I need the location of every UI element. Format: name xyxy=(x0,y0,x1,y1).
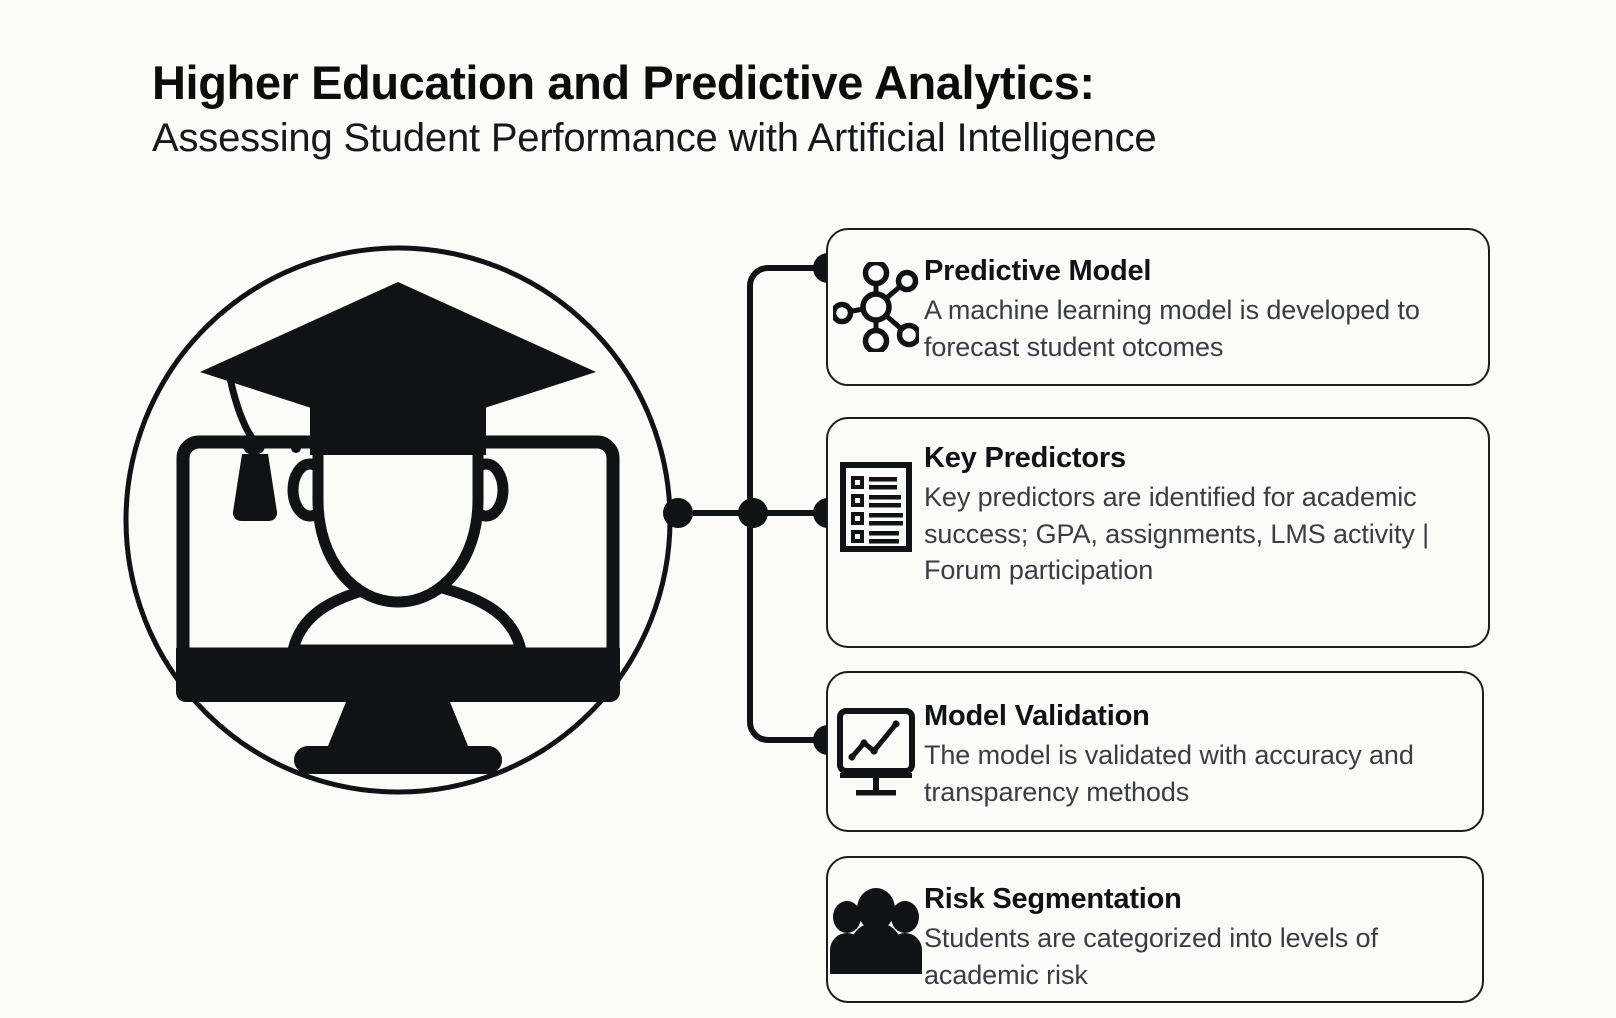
card-body: Predictive Model A machine learning mode… xyxy=(924,256,1488,365)
title-block: Higher Education and Predictive Analytic… xyxy=(152,58,1452,161)
checklist-document-icon xyxy=(828,461,924,553)
card-model-validation[interactable]: Model Validation The model is validated … xyxy=(826,671,1484,832)
infographic-root: Higher Education and Predictive Analytic… xyxy=(0,0,1616,1018)
page-subtitle: Assessing Student Performance with Artif… xyxy=(152,116,1452,161)
card-predictive-model[interactable]: Predictive Model A machine learning mode… xyxy=(826,228,1490,386)
card-description: Students are categorized into levels of … xyxy=(924,920,1470,993)
card-key-predictors[interactable]: Key Predictors Key predictors are identi… xyxy=(826,417,1490,648)
card-description: A machine learning model is developed to… xyxy=(924,292,1476,365)
graduate-student-on-monitor-illustration xyxy=(118,240,678,800)
network-nodes-icon xyxy=(828,262,924,352)
card-body: Risk Segmentation Students are categoriz… xyxy=(924,884,1482,993)
card-body: Key Predictors Key predictors are identi… xyxy=(924,443,1488,589)
card-title: Key Predictors xyxy=(924,443,1476,475)
page-title: Higher Education and Predictive Analytic… xyxy=(152,58,1452,107)
connector-dot-junction xyxy=(738,498,768,528)
card-description: Key predictors are identified for academ… xyxy=(924,479,1476,589)
card-title: Model Validation xyxy=(924,701,1470,733)
card-title: Predictive Model xyxy=(924,256,1476,288)
card-risk-segmentation[interactable]: Risk Segmentation Students are categoriz… xyxy=(826,856,1484,1003)
card-body: Model Validation The model is validated … xyxy=(924,701,1482,810)
card-title: Risk Segmentation xyxy=(924,884,1470,916)
people-group-icon xyxy=(828,888,924,974)
card-description: The model is validated with accuracy and… xyxy=(924,737,1470,810)
monitor-line-chart-icon xyxy=(828,707,924,797)
